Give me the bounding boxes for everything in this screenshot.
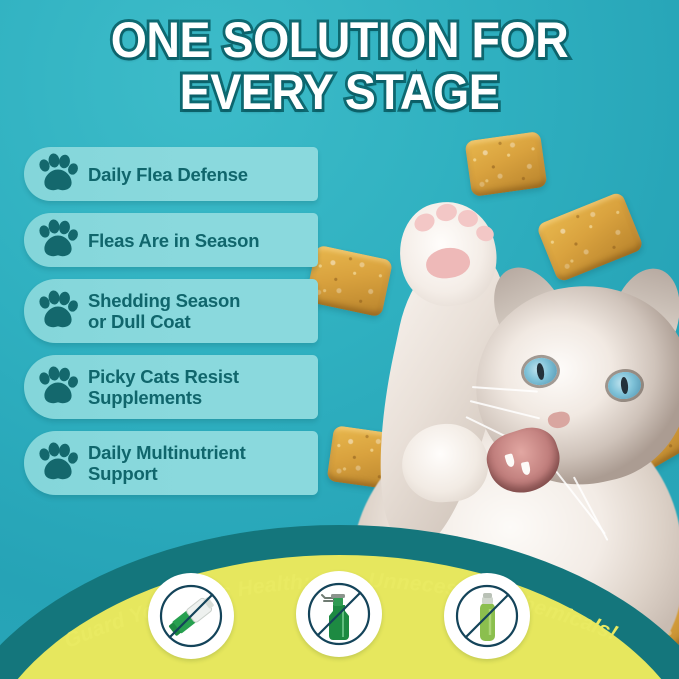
paw-pad: [424, 245, 472, 281]
paw-icon: [34, 365, 80, 409]
list-item[interactable]: Shedding Season or Dull Coat: [24, 279, 318, 343]
cat-nose: [547, 410, 571, 430]
cat-tooth: [504, 453, 515, 468]
no-spray-bottle-icon[interactable]: [296, 571, 382, 657]
list-item[interactable]: Daily Flea Defense: [24, 147, 318, 201]
paw-toe: [434, 202, 458, 223]
cat-front-paw: [399, 421, 490, 505]
benefits-list: Daily Flea Defense Fleas Are in Season: [24, 147, 324, 507]
list-item[interactable]: Daily Multinutrient Support: [24, 431, 318, 495]
list-item[interactable]: Fleas Are in Season: [24, 213, 318, 267]
treat: [605, 398, 679, 481]
list-item-label: Daily Flea Defense: [88, 164, 248, 185]
list-item-label: Picky Cats Resist Supplements: [88, 366, 239, 408]
page-title: ONE SOLUTION FOR EVERY STAGE: [24, 14, 655, 118]
cat-ear-right: [607, 260, 679, 349]
list-item-label: Daily Multinutrient Support: [88, 442, 246, 484]
paw-icon: [34, 152, 80, 196]
cat-whisker: [472, 386, 538, 392]
paw-icon: [34, 289, 80, 333]
list-item[interactable]: Picky Cats Resist Supplements: [24, 355, 318, 419]
cat-whisker: [470, 400, 540, 419]
paw-toe: [474, 223, 496, 244]
no-topical-tube-icon[interactable]: [148, 573, 234, 659]
treat: [464, 131, 547, 197]
cat-ear-left: [479, 255, 571, 350]
treat: [326, 425, 407, 491]
cat-whisker: [466, 416, 537, 452]
paw-toe: [457, 209, 479, 229]
treat: [536, 191, 645, 283]
chemical-free-icons: [0, 571, 679, 675]
cat-raised-paw: [392, 194, 505, 313]
paw-icon: [34, 441, 80, 485]
cat-eye-left: [522, 356, 558, 387]
list-item-label: Fleas Are in Season: [88, 230, 259, 251]
cat-mouth: [480, 420, 568, 501]
list-item-label: Shedding Season or Dull Coat: [88, 290, 240, 332]
paw-icon: [34, 218, 80, 262]
cat-head: [458, 266, 679, 504]
cat-eye-right: [607, 370, 643, 400]
cat-arm: [356, 238, 524, 554]
paw-toe: [411, 210, 438, 235]
product-infographic: ONE SOLUTION FOR EVERY STAGE Daily Flea …: [0, 0, 679, 679]
bottom-banner: Guard Your Pet's Health: Skip Unnecessar…: [0, 519, 679, 679]
cat-tooth: [521, 461, 532, 475]
no-aerosol-can-icon[interactable]: [444, 573, 530, 659]
